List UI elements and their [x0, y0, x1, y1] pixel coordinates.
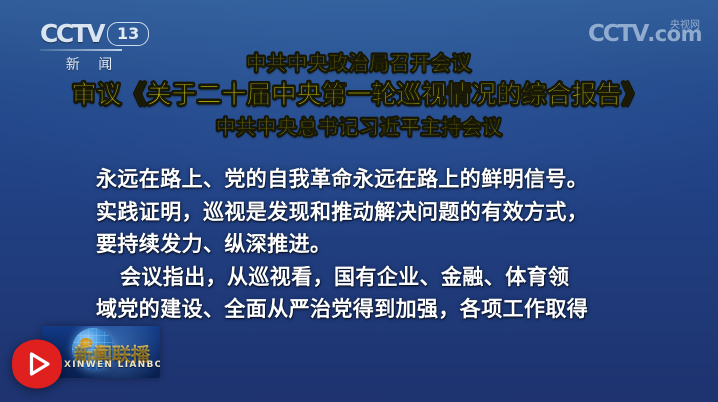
caption-body: 永远在路上、党的自我革命永远在路上的鲜明信号。 实践证明，巡视是发现和推动解决问…: [96, 163, 640, 326]
cctv13-underline-rule: [40, 49, 122, 51]
headline-line-3: 中共中央总书记习近平主持会议: [0, 112, 718, 142]
cctv-wordmark: CCTV: [40, 21, 103, 47]
cctv13-channel-logo: CCTV 13 新 闻: [40, 20, 148, 72]
broadcast-news-frame: CCTV 13 新 闻 央视网 CCTV.com 中共中央政治局召开会议 审议《…: [0, 0, 718, 402]
play-icon[interactable]: [10, 337, 64, 391]
play-button-overlay[interactable]: [10, 337, 64, 391]
watermark-cn-label: 央视网: [670, 16, 700, 31]
caption-line: 会议指出，从巡视看，国有企业、金融、体育领: [96, 261, 640, 294]
caption-line: 要持续发力、纵深推进。: [96, 228, 640, 261]
cctv-com-watermark: 央视网 CCTV.com: [588, 22, 702, 46]
cctv13-subtitle: 新 闻: [40, 54, 138, 74]
cctv13-logo-row: CCTV 13: [40, 20, 148, 48]
headline-line-2: 审议《关于二十届中央第一轮巡视情况的综合报告》: [0, 78, 718, 112]
channel-number-badge: 13: [107, 22, 149, 46]
caption-line: 永远在路上、党的自我革命永远在路上的鲜明信号。: [96, 163, 640, 196]
caption-line: 域党的建设、全面从严治党得到加强，各项工作取得: [96, 293, 640, 326]
program-name-en: XINWEN LIANBO: [64, 360, 160, 370]
watermark-brand: CCTV: [588, 21, 647, 47]
caption-line: 实践证明，巡视是发现和推动解决问题的有效方式，: [96, 196, 640, 229]
